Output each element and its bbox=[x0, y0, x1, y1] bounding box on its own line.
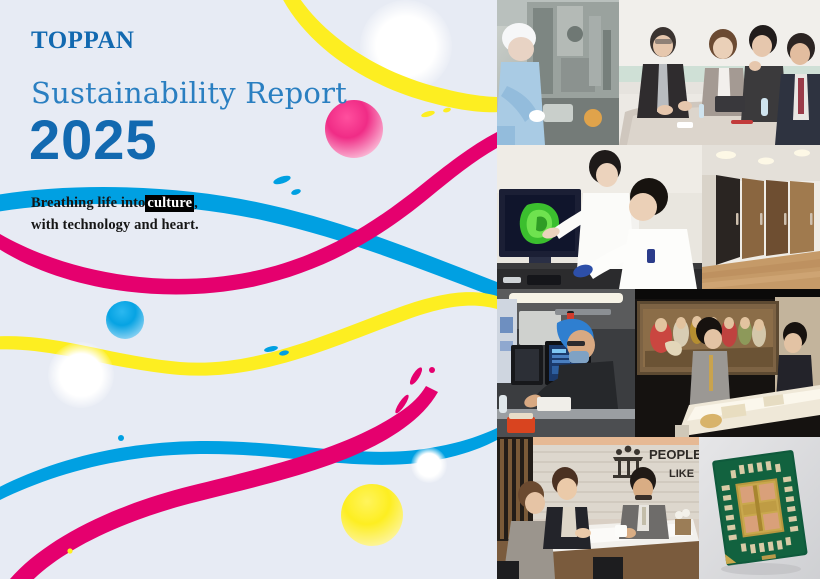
tagline-highlight-culture: culture bbox=[145, 195, 194, 212]
svg-text:LIKE: LIKE bbox=[669, 468, 694, 480]
photo-lab-researchers-3d-imaging bbox=[497, 145, 702, 289]
photo-interior-wood-corridor bbox=[702, 145, 820, 289]
toppan-logo: TOPPAN bbox=[31, 28, 134, 53]
tagline-line1-after: , bbox=[194, 195, 198, 211]
tagline-line-2: with technology and heart. bbox=[31, 214, 199, 236]
cover-tagline: Breathing life intoculture, with technol… bbox=[31, 192, 199, 237]
photo-office-reception-meeting: PEOPLE LIKE bbox=[497, 437, 699, 579]
page-title: Sustainability Report bbox=[31, 79, 347, 108]
photo-grid: PEOPLE LIKE bbox=[497, 0, 820, 579]
photo-factory-cleanroom-worker bbox=[497, 0, 619, 145]
photo-technician-workstation bbox=[497, 289, 635, 437]
cover-page: TOPPAN Sustainability Report 2025 Breath… bbox=[0, 0, 497, 579]
photo-museum-cultural-exhibition bbox=[635, 289, 820, 437]
cover-text-block: TOPPAN Sustainability Report 2025 Breath… bbox=[0, 0, 497, 579]
svg-text:PEOPLE: PEOPLE bbox=[649, 447, 699, 462]
report-year: 2025 bbox=[29, 112, 158, 168]
tagline-line-1: Breathing life intoculture, bbox=[31, 192, 199, 214]
photo-semiconductor-package-chip bbox=[699, 437, 820, 579]
report-cover-spread: TOPPAN Sustainability Report 2025 Breath… bbox=[0, 0, 820, 579]
tagline-line1-before: Breathing life into bbox=[31, 195, 145, 211]
photo-business-meeting-discussion bbox=[619, 0, 820, 145]
